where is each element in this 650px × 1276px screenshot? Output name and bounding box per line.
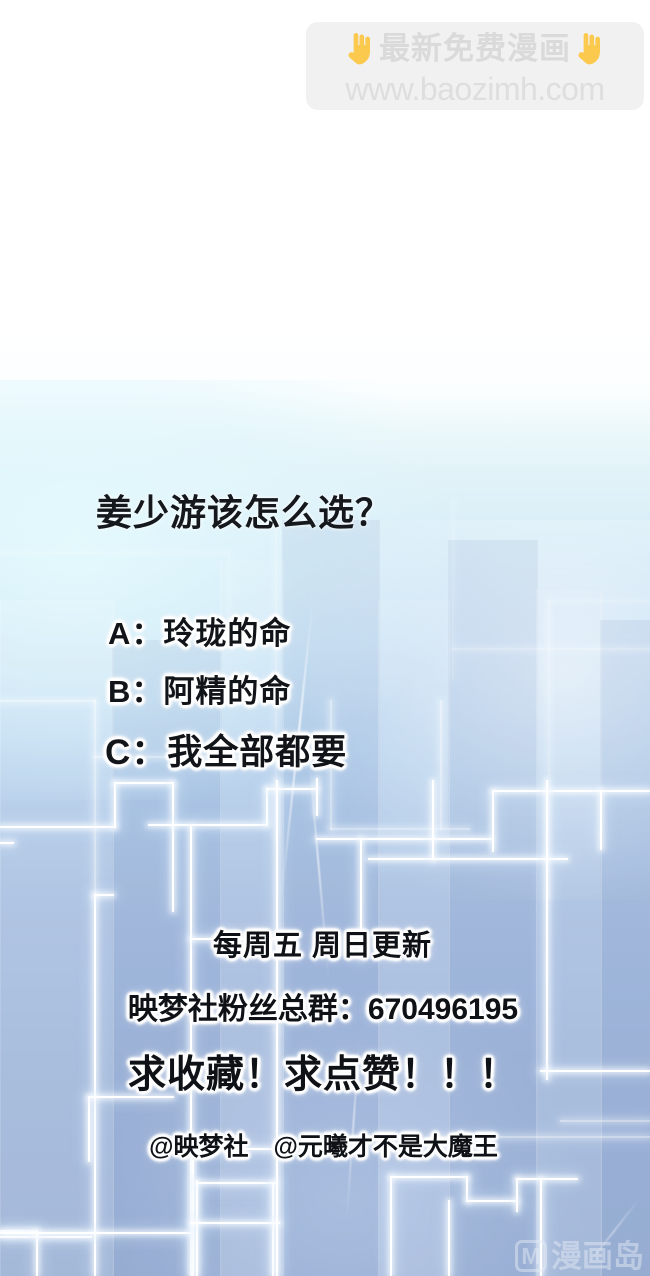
fan-group-text: 映梦社粉丝总群：670496195 <box>0 984 650 1028</box>
watermark-headline-row: 最新免费漫画 <box>343 28 607 70</box>
call-to-action-text: 求收藏！求点赞！！！ <box>0 1043 650 1098</box>
baozimh-watermark: 最新免费漫画 www.baozimh.com <box>306 22 644 110</box>
manhuadao-site-name: 漫画岛 <box>551 1241 644 1272</box>
update-schedule-text: 每周五 周日更新 <box>0 922 650 964</box>
manhuadao-badge-icon: M <box>515 1240 547 1272</box>
credits-text: @映梦社 @元曦才不是大魔王 <box>0 1127 650 1163</box>
pointing-down-hand-icon <box>573 32 607 66</box>
poll-option-b: B：阿精的命 <box>108 666 291 711</box>
poll-option-c: C：我全部都要 <box>105 724 347 775</box>
pointing-down-hand-icon <box>343 32 377 66</box>
watermark-url-text: www.baozimh.com <box>345 73 604 105</box>
watermark-cn-text: 最新免费漫画 <box>379 33 571 64</box>
comic-page: 最新免费漫画 www.baozimh.com 姜少游该怎么选？ A：玲珑的命 B… <box>0 0 650 1276</box>
poll-option-a: A：玲珑的命 <box>108 608 291 653</box>
poll-question: 姜少游该怎么选？ <box>96 484 392 536</box>
manhuadao-watermark: M 漫画岛 <box>515 1240 644 1272</box>
